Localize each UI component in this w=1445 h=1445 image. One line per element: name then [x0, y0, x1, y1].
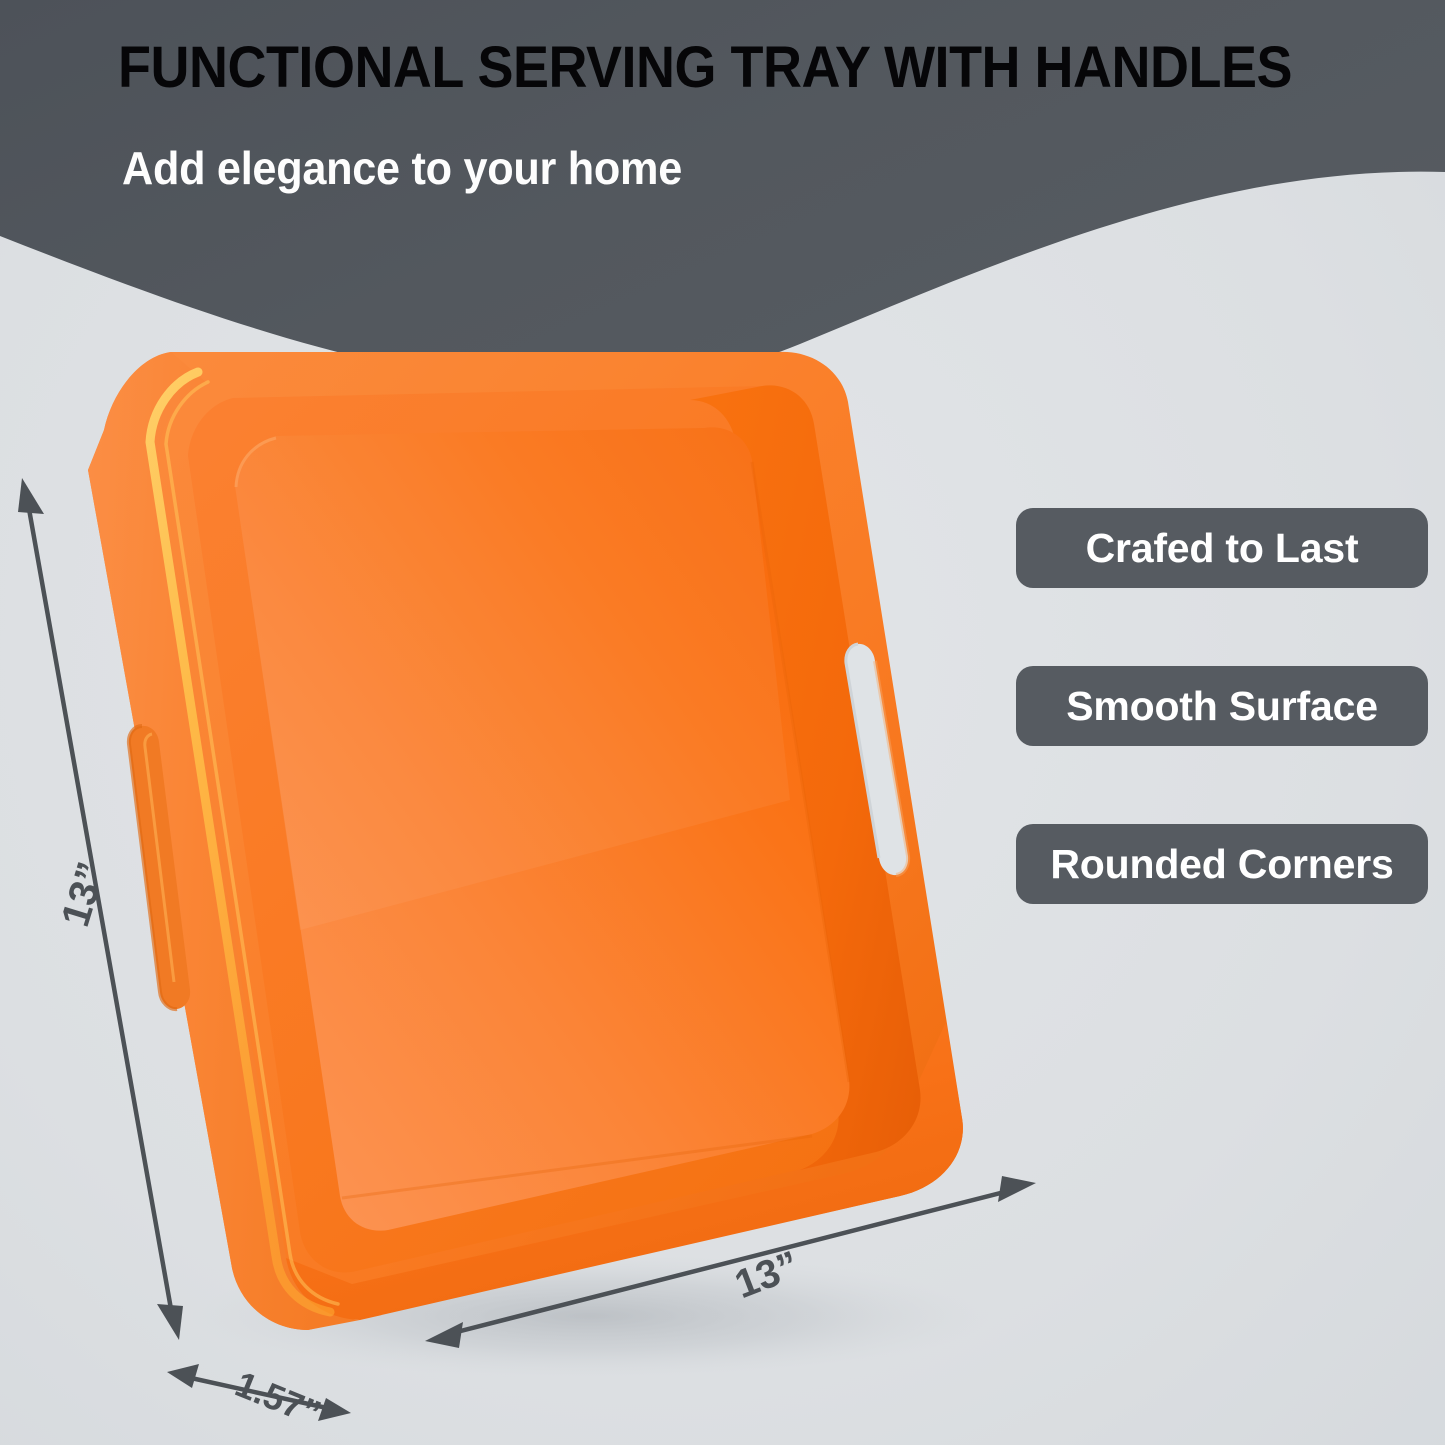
- feature-badge-list: Crafed to Last Smooth Surface Rounded Co…: [1016, 508, 1428, 904]
- height-arrow-head-bottom: [157, 1304, 183, 1340]
- feature-badge-crafted-to-last[interactable]: Crafed to Last: [1016, 508, 1428, 588]
- feature-badge-label: Rounded Corners: [1050, 844, 1393, 885]
- feature-badge-smooth-surface[interactable]: Smooth Surface: [1016, 666, 1428, 746]
- height-arrow-head-top: [18, 478, 44, 514]
- product-infographic: FUNCTIONAL SERVING TRAY WITH HANDLES Add…: [0, 0, 1445, 1445]
- feature-badge-label: Smooth Surface: [1066, 686, 1378, 727]
- depth-arrow-head-left: [167, 1364, 199, 1388]
- width-arrow-head-right: [998, 1176, 1036, 1202]
- depth-arrow-line: [182, 1376, 336, 1410]
- feature-badge-rounded-corners[interactable]: Rounded Corners: [1016, 824, 1428, 904]
- depth-arrow-head-right: [318, 1398, 351, 1421]
- feature-badge-label: Crafed to Last: [1086, 528, 1359, 569]
